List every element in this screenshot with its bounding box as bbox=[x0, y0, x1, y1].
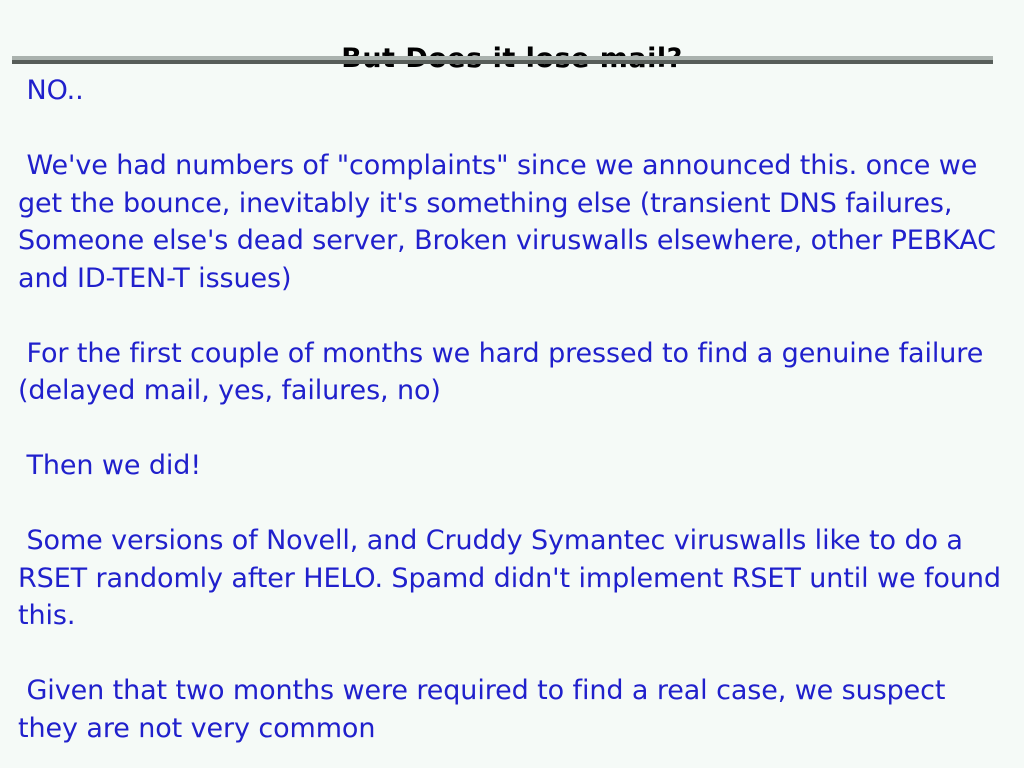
paragraph-spacer bbox=[18, 485, 1008, 523]
paragraph-spacer bbox=[18, 297, 1008, 335]
paragraph-spacer bbox=[18, 110, 1008, 148]
presentation-slide: But Does it lose mail? NO.. We've had nu… bbox=[0, 0, 1024, 768]
paragraph-spacer bbox=[18, 635, 1008, 673]
body-paragraph-6: Given that two months were required to f… bbox=[18, 672, 1008, 747]
divider-shadow-band bbox=[12, 60, 993, 64]
body-paragraph-2: We've had numbers of "complaints" since … bbox=[18, 147, 1008, 297]
body-paragraph-3: For the first couple of months we hard p… bbox=[18, 335, 1008, 410]
title-divider-rule bbox=[12, 56, 993, 64]
body-paragraph-5: Some versions of Novell, and Cruddy Syma… bbox=[18, 522, 1008, 635]
slide-body: NO.. We've had numbers of "complaints" s… bbox=[18, 72, 1008, 747]
paragraph-spacer bbox=[18, 410, 1008, 448]
body-paragraph-1: NO.. bbox=[18, 72, 1008, 110]
body-paragraph-4: Then we did! bbox=[18, 447, 1008, 485]
